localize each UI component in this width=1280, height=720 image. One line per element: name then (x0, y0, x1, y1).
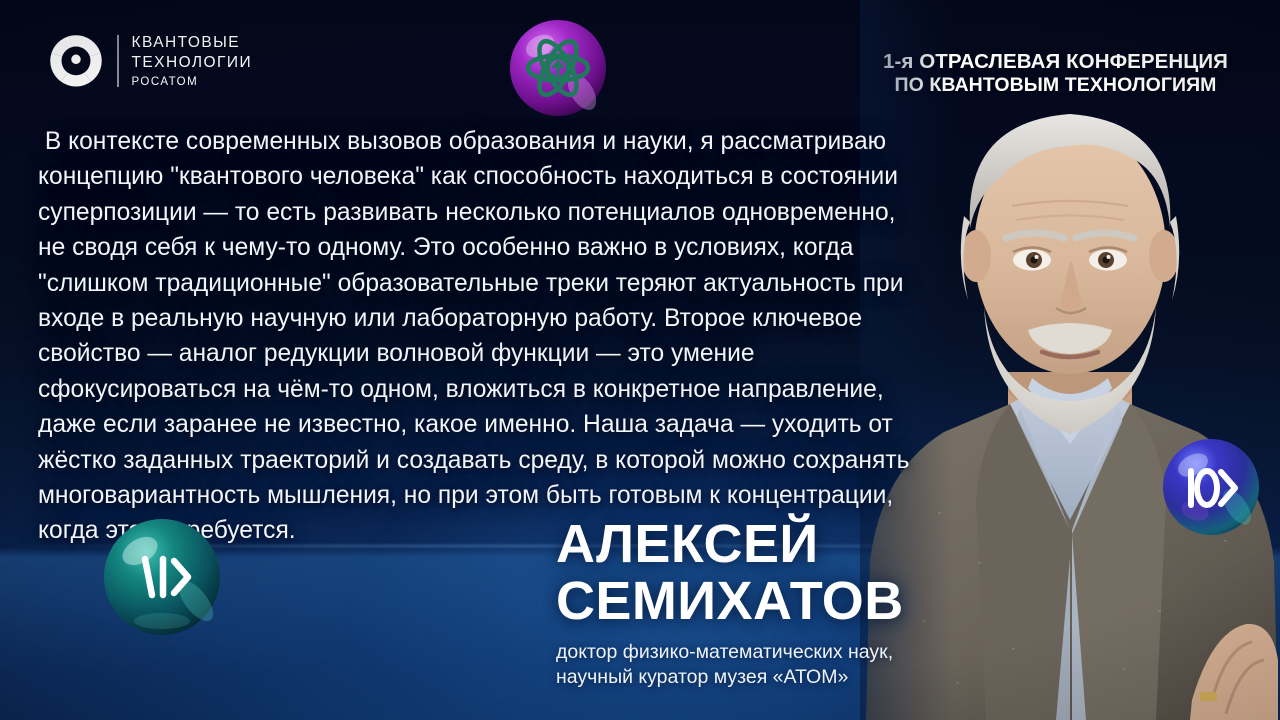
slide-canvas: КВАНТОВЫЕ ТЕХНОЛОГИИ РОСАТОМ 1-я ОТРАСЛЕ… (0, 0, 1280, 720)
logo-line-3: РОСАТОМ (132, 75, 253, 90)
ket-zero-sphere (1159, 435, 1263, 539)
quote-text: В контексте современных вызовов образова… (38, 124, 918, 549)
logo-line-1: КВАНТОВЫЕ (132, 33, 253, 53)
speaker-info: АЛЕКСЕЙ СЕМИХАТОВ доктор физико-математи… (556, 516, 1026, 689)
speaker-subtitle: доктор физико-математических наук, научн… (556, 640, 1026, 689)
rosatom-brand-logo: КВАНТОВЫЕ ТЕХНОЛОГИИ РОСАТОМ (48, 33, 252, 89)
rosatom-logo-icon (48, 33, 104, 89)
speaker-last-name: СЕМИХАТОВ (556, 573, 1026, 630)
logo-divider (117, 35, 119, 87)
ket-one-sphere (100, 515, 224, 639)
speaker-first-name: АЛЕКСЕЙ (556, 516, 1026, 573)
ket-one-sphere-graphic (100, 515, 224, 639)
atom-sphere (506, 16, 610, 120)
logo-line-2: ТЕХНОЛОГИИ (132, 53, 253, 73)
atom-sphere-graphic (506, 16, 610, 120)
ket-zero-sphere-graphic (1159, 435, 1263, 539)
logo-wordmark: КВАНТОВЫЕ ТЕХНОЛОГИИ РОСАТОМ (132, 33, 253, 89)
